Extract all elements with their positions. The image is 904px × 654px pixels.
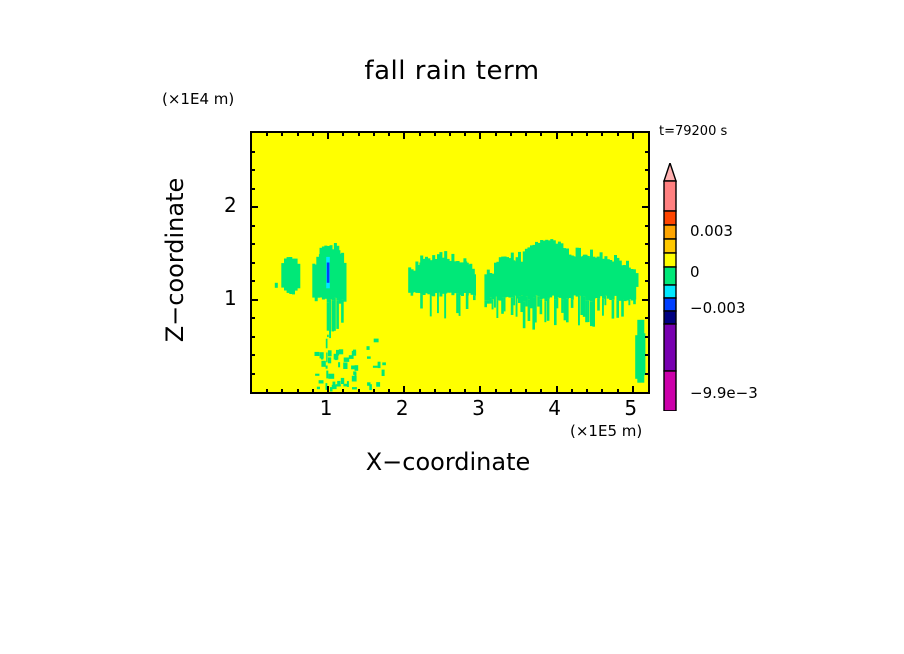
x-tick-top-2.8 [464, 131, 466, 136]
y-tick-right-0.2 [645, 373, 650, 375]
right-broad-anvil-streak [561, 299, 564, 313]
mid-cluster-core-b [452, 263, 455, 287]
left-plume-shaft [327, 335, 329, 337]
low-level-fragment [330, 387, 333, 391]
right-anvil-body-c [633, 269, 636, 288]
low-level-fragment [328, 374, 334, 379]
right-broad-anvil-streak [511, 298, 514, 315]
right-anvil-body-c [612, 269, 615, 291]
y-tick-1 [250, 299, 258, 301]
right-broad-anvil-streak [621, 299, 624, 317]
mid-cluster-streak [420, 295, 423, 309]
right-broad-anvil-streak [628, 299, 630, 305]
low-level-fragment [352, 376, 357, 382]
low-level-fragment [337, 381, 340, 385]
right-broad-anvil-streak [556, 297, 558, 308]
x-tick-4.8 [617, 389, 619, 394]
x-tick-0.4 [281, 389, 283, 394]
mid-cluster-streak [437, 293, 439, 314]
y-tick-2 [250, 206, 258, 208]
right-broad-anvil-streak [484, 300, 487, 307]
mid-cluster-core [425, 259, 428, 286]
x-axis-title: X−coordinate [250, 448, 646, 476]
right-broad-anvil-streak [564, 296, 567, 321]
left-small-cell-frag [275, 283, 278, 288]
x-tick-2.8 [464, 389, 466, 394]
y-tick-1.4 [250, 262, 255, 264]
right-broad-anvil-streak [504, 297, 506, 311]
y-tick-right-2.2 [645, 188, 650, 190]
low-level-fragment [315, 374, 319, 376]
main-left-plume-streak [329, 299, 331, 338]
x-tick-top-1.8 [388, 131, 390, 136]
right-broad-anvil-streak [516, 299, 518, 317]
mid-cluster-streak [444, 294, 446, 319]
x-tick-top-0.8 [312, 131, 314, 136]
band-cyan [664, 285, 676, 298]
left-plume-shaft [326, 366, 328, 369]
low-level-fragment [328, 350, 332, 356]
low-level-fragment [352, 387, 357, 389]
y-tick-right-1.4 [645, 262, 650, 264]
low-level-fragment [343, 363, 347, 370]
x-axis-units-label: (×1E5 m) [570, 422, 642, 440]
right-anvil-body-b [515, 261, 518, 289]
x-tick-4 [556, 386, 558, 394]
right-broad-anvil-streak [633, 300, 636, 305]
y-tick-label-2: 2 [224, 193, 237, 217]
mid-cluster-streak [473, 296, 476, 300]
x-tick-top-3 [479, 131, 481, 139]
band-yellow [664, 253, 676, 267]
contour-field [252, 133, 648, 392]
x-tick-top-1 [327, 131, 329, 139]
x-tick-2.6 [449, 389, 451, 394]
left-plume-shaft [326, 339, 328, 349]
right-anvil-body-b [502, 264, 505, 287]
x-tick-top-5 [632, 131, 634, 139]
band-orange-red [664, 211, 676, 225]
right-broad-anvil-streak [513, 296, 515, 306]
page-title: fall rain term [0, 56, 904, 86]
x-tick-top-1.6 [373, 131, 375, 136]
band-blue [664, 298, 676, 311]
x-tick-top-3.2 [495, 131, 497, 136]
right-anvil-body-c [623, 265, 626, 291]
main-left-plume-streak [327, 302, 330, 331]
y-tick-right-2 [642, 206, 650, 208]
left-small-cell [287, 257, 290, 293]
low-level-fragment-mid [374, 339, 379, 343]
y-tick-2.6 [250, 151, 255, 153]
colorbar-label-2: −0.003 [690, 299, 746, 317]
x-tick-3.6 [525, 389, 527, 394]
low-level-fragment [335, 355, 338, 360]
y-tick-2.2 [250, 188, 255, 190]
main-left-plume-streak [336, 301, 339, 329]
colorbar-label-3: −9.9e−3 [690, 384, 758, 402]
low-level-fragment [344, 358, 350, 362]
right-anvil-body-c [618, 265, 621, 290]
x-tick-3.8 [540, 389, 542, 394]
x-tick-top-4.6 [601, 131, 603, 136]
x-tick-label-3: 3 [472, 396, 485, 420]
low-level-fragment [343, 384, 347, 387]
right-anvil-body-b [527, 263, 530, 286]
x-tick-0.2 [266, 389, 268, 394]
low-level-fragment [355, 365, 359, 371]
x-tick-top-4.2 [571, 131, 573, 136]
x-tick-3.4 [510, 389, 512, 394]
right-broad-anvil-streak [578, 296, 580, 326]
timestamp-annotation: t=79200 s [659, 124, 727, 139]
band-magenta [664, 371, 676, 411]
right-edge-column-body [637, 320, 644, 383]
right-broad-anvil-streak [588, 301, 590, 322]
y-tick-right-1 [642, 299, 650, 301]
colorbar-label-0: 0.003 [690, 222, 733, 240]
y-tick-1.2 [250, 280, 255, 282]
low-level-fragment [333, 382, 336, 386]
right-anvil-body-c [615, 267, 618, 291]
low-level-fragment-mid [376, 382, 380, 387]
x-tick-1 [327, 386, 329, 394]
left-small-cell [289, 257, 292, 294]
right-broad-anvil-streak [571, 300, 574, 308]
x-tick-top-0.4 [281, 131, 283, 136]
mid-cluster-core-b [459, 262, 462, 290]
low-level-fragment-mid [382, 370, 385, 376]
x-tick-1.8 [388, 389, 390, 394]
mid-cluster-core-b [446, 268, 449, 283]
y-tick-right-0.4 [645, 354, 650, 356]
right-anvil-body-b [494, 268, 497, 281]
main-left-plume-top [332, 250, 335, 293]
right-broad-anvil-streak [487, 301, 490, 304]
right-broad-anvil-streak [525, 297, 528, 307]
x-tick-top-3.8 [540, 131, 542, 136]
right-broad-anvil-streak [523, 301, 526, 328]
right-anvil-body-b [522, 262, 525, 288]
y-tick-right-1.6 [645, 243, 650, 245]
left-plume-shaft [326, 353, 327, 363]
main-left-plume-top [335, 250, 338, 290]
right-broad-anvil-streak [496, 300, 498, 318]
colorbar [662, 163, 678, 411]
low-level-fragment-mid [367, 356, 371, 358]
band-salmon [664, 181, 676, 211]
x-tick-0.6 [297, 389, 299, 394]
mid-cluster-core [430, 260, 433, 290]
left-small-cell [292, 259, 295, 295]
x-tick-top-4.8 [617, 131, 619, 136]
x-tick-5 [632, 386, 634, 394]
low-level-fragment [315, 352, 320, 356]
right-broad-anvil-streak [520, 296, 523, 312]
right-broad-anvil-streak [530, 300, 533, 308]
x-tick-top-3.6 [525, 131, 527, 136]
x-tick-top-0.6 [297, 131, 299, 136]
mid-cluster-streak [466, 296, 469, 310]
left-small-cell [281, 263, 284, 288]
low-level-fragment [349, 355, 354, 359]
low-level-fragment [319, 380, 324, 383]
right-anvil-body-c [610, 269, 613, 288]
mid-cluster-streak [459, 295, 461, 316]
low-level-fragment [336, 384, 341, 386]
low-level-fragment-mid [382, 362, 386, 365]
main-left-plume-streak [334, 298, 336, 331]
right-broad-anvil-streak [566, 299, 569, 323]
x-tick-4.2 [571, 389, 573, 394]
main-left-plume-top [337, 250, 340, 284]
x-tick-top-1.4 [358, 131, 360, 136]
right-broad-anvil-streak [612, 300, 615, 319]
right-broad-anvil-streak [554, 299, 557, 325]
low-level-fragment [341, 378, 344, 384]
right-broad-anvil-streak [590, 301, 593, 326]
x-tick-top-4 [556, 131, 558, 139]
mid-cluster-core [422, 261, 425, 286]
y-axis-title: Z−coordinate [161, 178, 189, 343]
right-anvil-body-c [636, 273, 639, 287]
right-broad-anvil-streak [494, 296, 496, 307]
right-broad-anvil-streak [583, 297, 586, 317]
band-gold [664, 239, 676, 253]
mid-cluster-core [435, 259, 438, 288]
right-broad-anvil-streak [544, 301, 546, 322]
mid-cluster-core-b [464, 261, 467, 287]
main-left-plume-top [330, 245, 333, 289]
x-tick-label-5: 5 [624, 396, 637, 420]
x-tick-top-4.4 [586, 131, 588, 136]
main-left-plume-top [319, 254, 322, 288]
low-level-fragment [321, 361, 325, 367]
band-purple [664, 324, 676, 371]
low-level-fragment [354, 372, 356, 376]
low-level-fragment [320, 352, 324, 358]
x-tick-1.4 [358, 389, 360, 394]
band-orange [664, 225, 676, 239]
low-level-fragment-mid [367, 346, 370, 350]
left-small-cell [297, 264, 300, 289]
right-broad-anvil-streak [585, 301, 588, 322]
right-broad-anvil-streak [532, 298, 535, 330]
plot-area [250, 131, 650, 394]
low-level-fragment [317, 387, 320, 390]
right-anvil-body-b [535, 270, 538, 283]
left-plume-core-blue [327, 263, 330, 283]
low-level-fragment [351, 366, 354, 370]
x-tick-top-2.2 [419, 131, 421, 136]
x-tick-top-1.2 [342, 131, 344, 136]
y-tick-1.6 [250, 243, 255, 245]
x-tick-2.4 [434, 389, 436, 394]
right-anvil-turret [540, 240, 543, 273]
low-level-fragment-mid [367, 382, 370, 386]
band-spring-green [664, 267, 676, 285]
right-broad-anvil-streak [547, 299, 550, 321]
x-tick-4.4 [586, 389, 588, 394]
main-left-plume [344, 263, 347, 302]
mid-cluster-core-b [472, 269, 475, 284]
mid-cluster-core [440, 260, 443, 285]
low-level-fragment [338, 362, 340, 367]
y-tick-right-1.2 [645, 280, 650, 282]
right-broad-anvil-streak [518, 296, 521, 303]
right-broad-anvil-streak [528, 300, 531, 321]
right-broad-anvil-streak [535, 296, 537, 323]
x-tick-1.6 [373, 389, 375, 394]
left-small-cell [284, 259, 287, 291]
y-tick-2.4 [250, 169, 255, 171]
mid-cluster-streak [430, 296, 432, 317]
x-tick-top-2.4 [434, 131, 436, 136]
right-broad-anvil-streak [537, 297, 540, 307]
right-broad-anvil-streak [597, 298, 600, 310]
right-broad-anvil-streak [604, 296, 606, 305]
y-tick-right-1.8 [645, 225, 650, 227]
y-tick-0.2 [250, 373, 255, 375]
low-level-fragment-mid [378, 362, 381, 368]
y-tick-0.8 [250, 317, 255, 319]
low-level-fragment [339, 349, 343, 354]
right-broad-anvil-streak [489, 298, 492, 304]
right-broad-anvil-streak [580, 297, 583, 316]
y-tick-right-0.8 [645, 317, 650, 319]
right-anvil-body-b [507, 263, 510, 289]
low-level-fragment-mid [373, 366, 378, 368]
x-tick-top-2 [403, 131, 405, 139]
main-left-plume-top [316, 257, 319, 283]
x-tick-0.8 [312, 389, 314, 394]
mid-cluster-core [437, 259, 440, 286]
x-tick-2.2 [419, 389, 421, 394]
x-tick-1.2 [342, 389, 344, 394]
right-broad-anvil-streak [616, 301, 619, 318]
colorbar-gradient [662, 163, 678, 411]
y-tick-label-1: 1 [224, 286, 237, 310]
x-tick-top-0.2 [266, 131, 268, 136]
band-light-pink [664, 163, 676, 181]
y-tick-0.4 [250, 354, 255, 356]
x-tick-label-1: 1 [320, 396, 333, 420]
right-broad-anvil-streak [501, 297, 504, 314]
right-anvil-body-c [625, 265, 628, 290]
x-tick-label-4: 4 [548, 396, 561, 420]
y-tick-0.6 [250, 336, 255, 338]
right-broad-anvil-streak [492, 299, 494, 309]
main-left-plume-streak [341, 299, 344, 322]
low-level-fragment [336, 350, 339, 356]
mid-cluster-streak [411, 293, 414, 296]
colorbar-label-1: 0 [690, 263, 700, 281]
y-tick-right-2.6 [645, 151, 650, 153]
figure-canvas: fall rain term (×1E4 m) (×1E5 m) t=79200… [0, 0, 904, 654]
left-plume-shaft [326, 371, 328, 379]
mid-cluster-streak [456, 293, 459, 313]
band-navy [664, 311, 676, 324]
x-tick-2 [403, 386, 405, 394]
x-tick-4.6 [601, 389, 603, 394]
y-tick-1.8 [250, 225, 255, 227]
main-left-plume-streak [332, 301, 335, 332]
y-axis-units-label: (×1E4 m) [162, 90, 234, 108]
x-tick-3.2 [495, 389, 497, 394]
x-tick-top-3.4 [510, 131, 512, 136]
right-broad-anvil-streak [540, 299, 543, 314]
left-small-cell [295, 259, 298, 291]
x-tick-3 [479, 386, 481, 394]
mid-cluster-core [417, 265, 420, 281]
y-tick-right-0.6 [645, 336, 650, 338]
x-tick-top-2.6 [449, 131, 451, 136]
low-level-fragment [353, 350, 356, 356]
main-left-plume-top [322, 251, 325, 291]
right-anvil-body-c [628, 268, 631, 292]
low-level-fragment [328, 357, 331, 363]
right-broad-anvil-streak [592, 299, 595, 327]
x-tick-label-2: 2 [396, 396, 409, 420]
mid-cluster-core [427, 258, 430, 287]
y-tick-right-2.4 [645, 169, 650, 171]
right-broad-anvil-streak [602, 299, 604, 316]
main-left-plume-top [340, 256, 343, 282]
